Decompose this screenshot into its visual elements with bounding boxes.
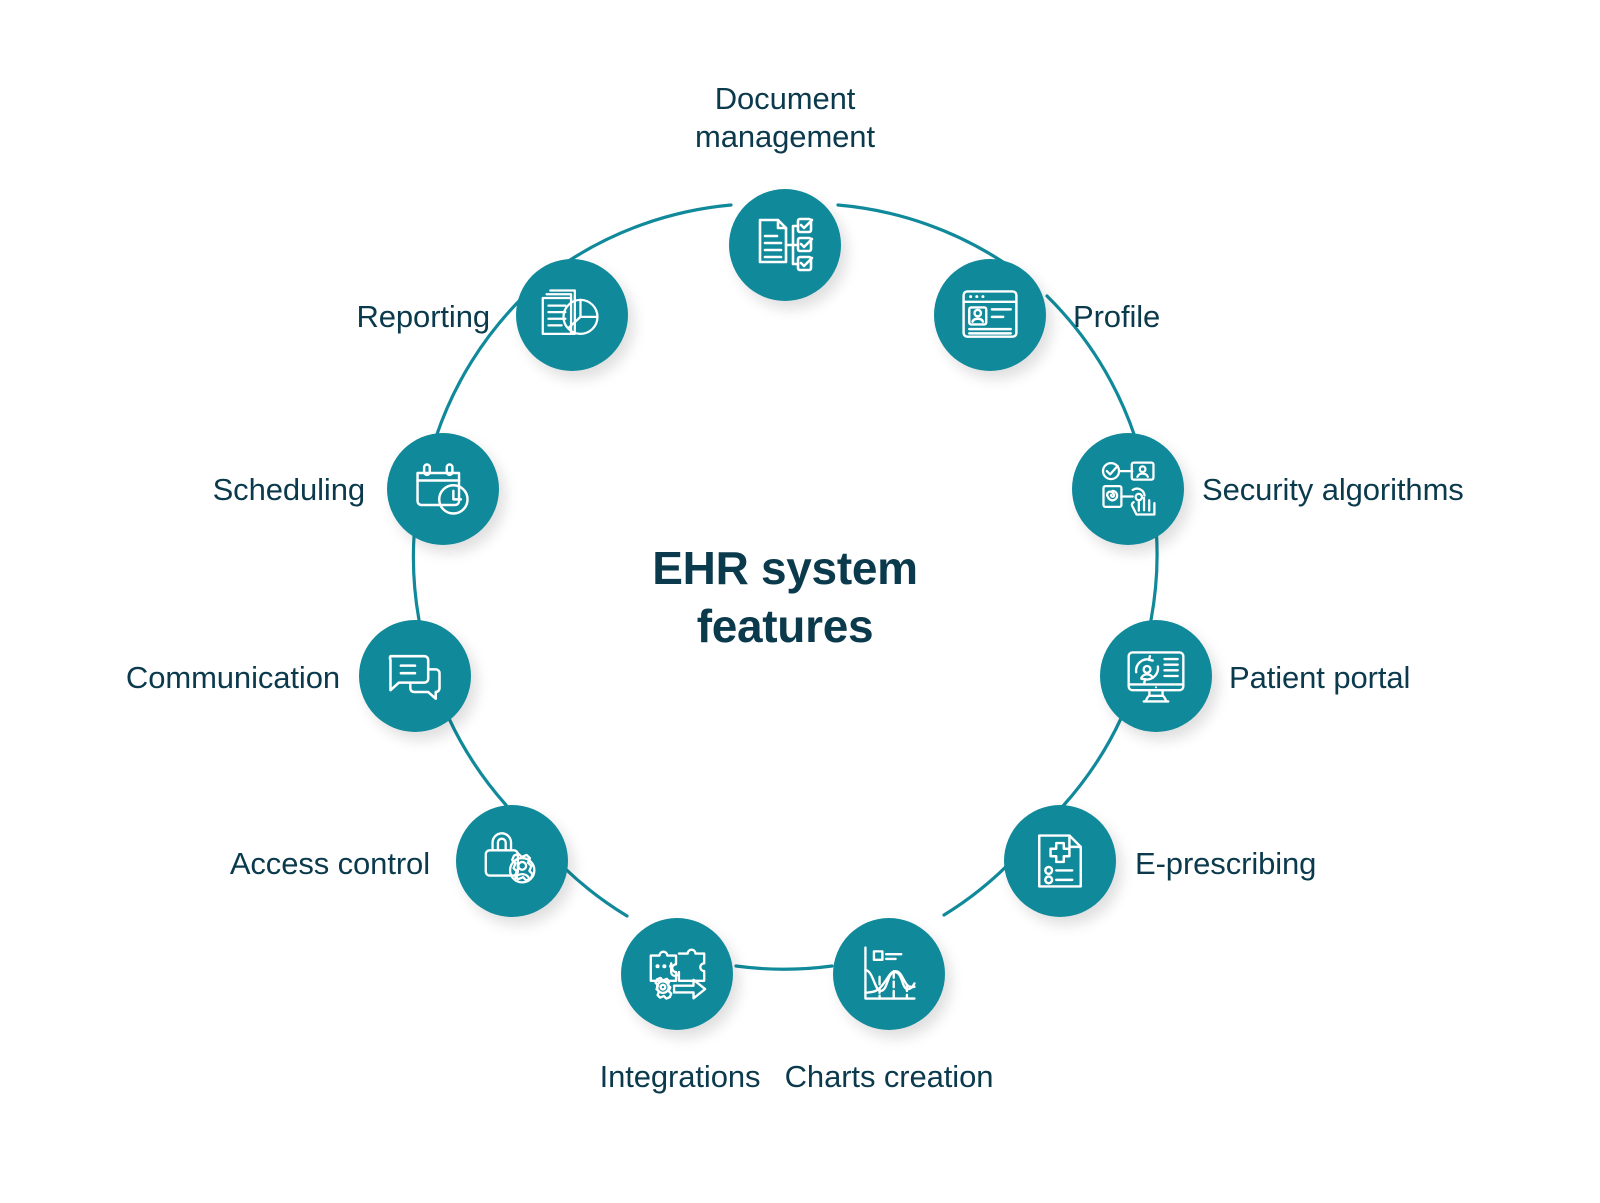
- prescription-document-icon: [1027, 828, 1093, 894]
- node-communication[interactable]: [359, 620, 471, 732]
- arc-reporting-to-doc: [561, 205, 731, 266]
- node-reporting[interactable]: [516, 259, 628, 371]
- node-label-reporting: Reporting: [200, 298, 490, 336]
- node-charts-creation[interactable]: [833, 918, 945, 1030]
- document-checklist-icon: [750, 210, 820, 280]
- arc-charts-to-integrations: [736, 966, 832, 969]
- node-label-integrations: Integrations: [530, 1058, 830, 1096]
- line-chart-icon: [856, 941, 922, 1007]
- monitor-patient-icon: [1123, 643, 1189, 709]
- padlock-gear-user-icon: [478, 827, 546, 895]
- node-profile[interactable]: [934, 259, 1046, 371]
- node-access-control[interactable]: [456, 805, 568, 917]
- node-security-algorithms[interactable]: [1072, 433, 1184, 545]
- report-piechart-icon: [539, 282, 605, 348]
- node-label-scheduling: Scheduling: [60, 471, 365, 509]
- node-document-management[interactable]: [729, 189, 841, 301]
- page-title: EHR system features: [585, 540, 985, 655]
- node-integrations[interactable]: [621, 918, 733, 1030]
- security-biometric-icon: [1095, 456, 1161, 522]
- diagram-canvas: EHR system features Document management: [0, 0, 1600, 1203]
- node-label-access-control: Access control: [80, 845, 430, 883]
- node-label-profile: Profile: [1073, 298, 1373, 336]
- node-patient-portal[interactable]: [1100, 620, 1212, 732]
- node-scheduling[interactable]: [387, 433, 499, 545]
- node-label-security-algorithms: Security algorithms: [1202, 471, 1600, 509]
- node-label-document-management: Document management: [585, 80, 985, 156]
- arc-doc-to-profile: [838, 205, 1009, 266]
- browser-profile-icon: [957, 282, 1023, 348]
- node-label-e-prescribing: E-prescribing: [1135, 845, 1475, 883]
- node-e-prescribing[interactable]: [1004, 805, 1116, 917]
- node-label-communication: Communication: [30, 659, 340, 697]
- speech-bubbles-icon: [382, 643, 448, 709]
- calendar-clock-icon: [410, 456, 476, 522]
- puzzle-gear-arrow-icon: [643, 940, 711, 1008]
- node-label-patient-portal: Patient portal: [1229, 659, 1579, 697]
